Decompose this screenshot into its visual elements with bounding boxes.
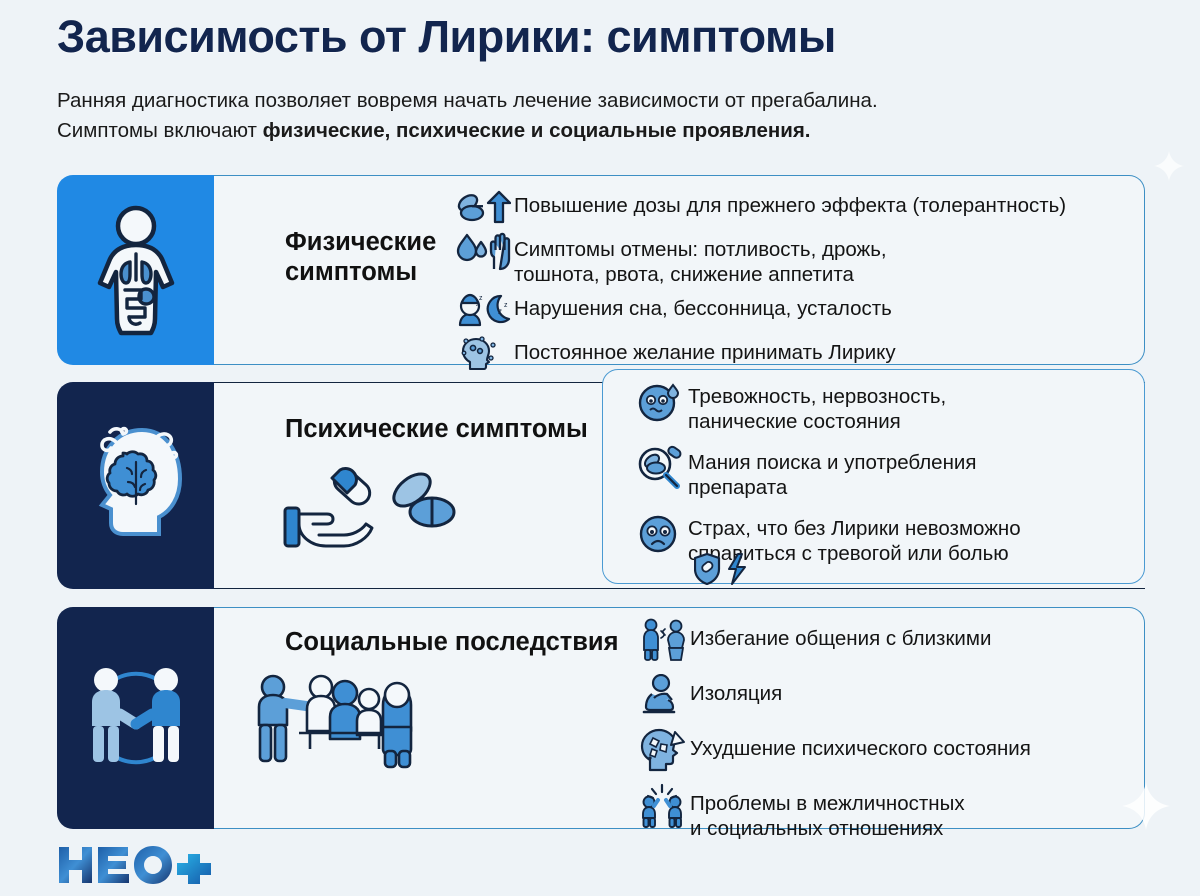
brand-logo[interactable] [57, 845, 217, 885]
pills-up-arrow-icon [452, 186, 514, 228]
card-mental-icon-panel [57, 382, 214, 589]
list-item-text: Ухудшение психического состояния [690, 727, 1031, 761]
card-physical-icon-panel [57, 175, 214, 365]
list-item: Постоянное желание принимать Лирику [452, 333, 1142, 375]
conflict-two-people-icon [636, 782, 690, 828]
list-item: zz zz Нарушения сна, бессонница, усталос… [452, 289, 1142, 331]
group-of-people-bench-icon [247, 665, 477, 780]
svg-text:z: z [479, 295, 483, 302]
svg-text:z: z [504, 302, 508, 309]
neo-plus-logo-icon [57, 844, 217, 886]
lightning-bolt-icon [729, 554, 745, 584]
card-physical-title: Физические симптомы [285, 227, 436, 287]
human-body-organs-icon [84, 204, 188, 336]
list-item-text: Повышение дозы для прежнего эффекта (тол… [514, 186, 1066, 218]
svg-text:z: z [498, 307, 502, 316]
hand-with-pills-icon [282, 464, 472, 559]
card-physical-title-line2: симптомы [285, 258, 417, 286]
list-item-text: Проблемы в межличностных и социальных от… [690, 782, 965, 842]
list-item-text: Нарушения сна, бессонница, усталость [514, 289, 892, 321]
isolated-sitting-person-icon [636, 672, 690, 718]
list-item: Повышение дозы для прежнего эффекта (тол… [452, 186, 1142, 228]
list-item-text: Изоляция [690, 672, 782, 706]
list-item: Симптомы отмены: потливость, дрожь, тошн… [452, 230, 1142, 287]
list-item: Проблемы в межличностных и социальных от… [636, 782, 1136, 842]
right-person [136, 668, 180, 762]
list-item-text: Постоянное желание принимать Лирику [514, 333, 896, 365]
magnifier-pills-search-icon [630, 446, 688, 490]
page-subtitle: Ранняя диагностика позволяет вовремя нач… [57, 86, 1152, 145]
social-consequences-list: Избегание общения с близкими Изоляция [636, 617, 1136, 851]
head-brain-icon [80, 422, 192, 550]
avoiding-contact-people-icon [636, 617, 690, 663]
mental-symptoms-list: Тревожность, нервозность, панические сос… [630, 380, 1130, 577]
list-item: Тревожность, нервозность, панические сос… [630, 380, 1130, 435]
list-item: Изоляция [636, 672, 1136, 718]
physical-symptoms-list: Повышение дозы для прежнего эффекта (тол… [452, 186, 1142, 377]
craving-head-icon [452, 333, 514, 375]
shield-pill-and-bolt-icons [694, 553, 754, 583]
sparkle-decoration-icon [1152, 150, 1186, 189]
two-people-connection-icon [76, 658, 196, 778]
anxious-sweating-face-icon [630, 380, 688, 424]
list-item-text: Симптомы отмены: потливость, дрожь, тошн… [514, 230, 887, 287]
page-title: Зависимость от Лирики: симптомы [57, 12, 1147, 62]
list-item: Мания поиска и употребления препарата [630, 446, 1130, 501]
subtitle-line-2-plain: Симптомы включают [57, 119, 263, 142]
subtitle-line-2-bold: физические, психические и социальные про… [263, 119, 811, 142]
subtitle-line-1: Ранняя диагностика позволяет вовремя нач… [57, 89, 878, 112]
card-social-icon-panel [57, 607, 214, 829]
sleepless-face-moon-icon: zz zz [452, 289, 514, 331]
sad-worried-face-icon [630, 512, 688, 556]
infographic-canvas: Зависимость от Лирики: симптомы Ранняя д… [0, 0, 1200, 896]
broken-mind-head-icon [636, 727, 690, 773]
card-social-title: Социальные последствия [285, 627, 618, 657]
list-item: Избегание общения с близкими [636, 617, 1136, 663]
list-item: Ухудшение психического состояния [636, 727, 1136, 773]
list-item-text: Тревожность, нервозность, панические сос… [688, 380, 946, 435]
shield-pill-icon [695, 554, 719, 584]
sweat-drops-trembling-hand-icon [452, 230, 514, 272]
list-item-text: Мания поиска и употребления препарата [688, 446, 976, 501]
list-item-text: Избегание общения с близкими [690, 617, 991, 651]
card-physical-title-line1: Физические [285, 228, 436, 256]
card-mental-title: Психические симптомы [285, 414, 588, 444]
left-person [92, 668, 136, 762]
